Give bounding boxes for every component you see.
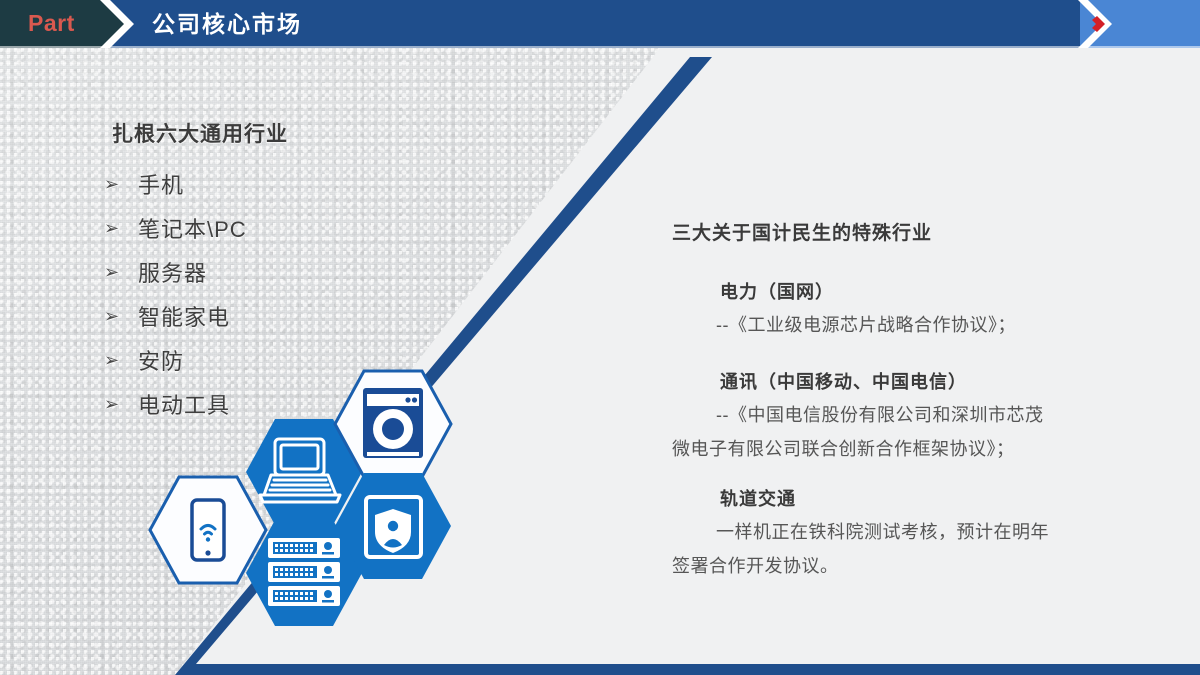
left-section-heading: 扎根六大通用行业: [112, 118, 288, 148]
bullet-arrow-icon: ➢: [104, 395, 138, 413]
phone-wifi-icon: [192, 500, 224, 560]
right-section-heading: 三大关于国计民生的特殊行业: [672, 218, 932, 245]
header-chevron-accent-icon: [1072, 0, 1120, 48]
group-body: --《工业级电源芯片战略合作协议》；: [672, 308, 1016, 342]
bullet-arrow-icon: ➢: [104, 263, 138, 281]
group-line: --《中国电信股份有限公司和深圳市芯茂: [672, 398, 1044, 432]
hexagon-icon-cluster: [140, 360, 460, 630]
hex-tile-phone: [150, 413, 266, 583]
group-body: --《中国电信股份有限公司和深圳市芯茂 微电子有限公司联合创新合作框架协议》；: [672, 398, 1044, 466]
list-item: ➢ 笔记本\PC: [104, 206, 247, 250]
group-body: 一样机正在铁科院测试考核，预计在明年 签署合作开发协议。: [672, 515, 1049, 583]
group-title: 通讯（中国移动、中国电信）: [720, 368, 1044, 394]
group-line: 一样机正在铁科院测试考核，预计在明年: [672, 515, 1049, 549]
list-item-label: 笔记本\PC: [138, 212, 247, 244]
washing-machine-icon: [363, 388, 423, 458]
page-title: 公司核心市场: [152, 0, 302, 48]
bullet-arrow-icon: ➢: [104, 175, 138, 193]
bullet-arrow-icon: ➢: [104, 351, 138, 369]
list-item-label: 智能家电: [138, 300, 230, 332]
group-line: --《工业级电源芯片战略合作协议》；: [672, 308, 1016, 342]
group-line: 微电子有限公司联合创新合作框架协议》；: [672, 432, 1044, 466]
group-title: 电力（国网）: [720, 278, 1016, 304]
list-item: ➢ 智能家电: [104, 294, 247, 338]
bullet-arrow-icon: ➢: [104, 307, 138, 325]
server-rack-icon: [268, 538, 340, 606]
right-group-communications: 通讯（中国移动、中国电信） --《中国电信股份有限公司和深圳市芯茂 微电子有限公…: [672, 368, 1044, 466]
list-item-label: 手机: [138, 168, 184, 200]
right-group-rail-transit: 轨道交通 一样机正在铁科院测试考核，预计在明年 签署合作开发协议。: [672, 485, 1049, 583]
header-underline: [0, 46, 1200, 48]
bullet-arrow-icon: ➢: [104, 219, 138, 237]
slide-header: Part 公司核心市场: [0, 0, 1200, 48]
list-item: ➢ 手机: [104, 162, 247, 206]
list-item: ➢ 服务器: [104, 250, 247, 294]
slide-root: Part 公司核心市场 扎根六大通用行业 ➢ 手机 ➢ 笔记本\PC ➢ 服务器…: [0, 0, 1200, 675]
header-part-label: Part: [28, 0, 75, 48]
group-title: 轨道交通: [720, 485, 1049, 511]
group-line: 签署合作开发协议。: [672, 549, 1049, 583]
right-group-power: 电力（国网） --《工业级电源芯片战略合作协议》；: [672, 278, 1016, 342]
list-item-label: 服务器: [138, 256, 207, 288]
